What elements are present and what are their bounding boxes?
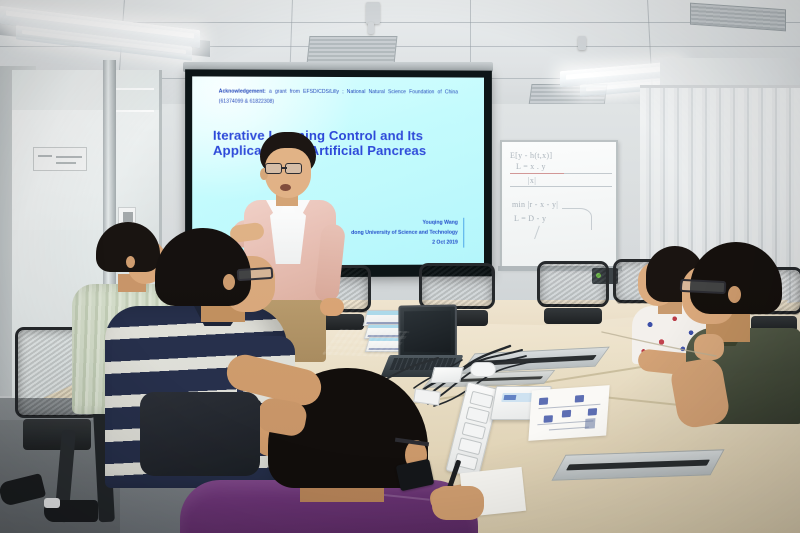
printed-handout[interactable] [528, 385, 609, 441]
ceiling-air-vent [307, 36, 398, 64]
office-chair[interactable] [540, 264, 606, 324]
sprinkler-head-icon [578, 36, 586, 50]
slide-acknowledgement-label: Acknowledgement: [219, 89, 266, 95]
slide-affiliation: dong University of Science and Technolog… [351, 228, 458, 238]
striped-polo-hair [155, 228, 251, 306]
sprinkler-head-icon [368, 22, 374, 34]
presenter-right-hand [320, 298, 344, 316]
olive-polo-ear [728, 286, 741, 303]
whiteboard-equation: E[y - h(t,x)] [510, 151, 552, 160]
device-label [501, 393, 533, 402]
presenter-eyeglasses-icon [285, 163, 302, 174]
presenter-eyeglasses-icon [265, 163, 282, 174]
whiteboard-equation: L = D - y [514, 214, 546, 223]
whiteboard-equation: |x| [528, 176, 536, 185]
sprinkler-head-icon [366, 2, 380, 24]
slide-acknowledgement: Acknowledgement: a grant from EFSD/CDS/L… [219, 88, 458, 108]
presenter-eyeglasses-bridge [281, 167, 287, 169]
whiteboard: E[y - h(t,x)] L = x . y |x| min |r - x -… [500, 140, 618, 268]
sock [44, 498, 60, 508]
olive-polo-hair [690, 242, 782, 314]
door-room-sign [33, 147, 87, 171]
olive-polo-eyeglasses-icon [680, 279, 727, 294]
slide-byline: Youqing Wang dong University of Science … [351, 217, 464, 248]
slide-date: 2 Oct 2019 [351, 238, 458, 248]
slide-author: Youqing Wang [351, 217, 458, 227]
whiteboard-equation: min |r - x - y| [512, 200, 558, 209]
striped-polo-eyeglasses-icon [237, 267, 274, 281]
ceiling-air-vent [690, 3, 786, 32]
whiteboard-equation: L = x . y [516, 162, 546, 171]
cable [600, 328, 720, 362]
dark-trousers [140, 392, 260, 476]
striped-polo-ear [223, 274, 235, 290]
writing-hand [432, 486, 484, 520]
presenter-mouth [280, 184, 291, 191]
meeting-room-photo: E[y - h(t,x)] L = x . y |x| min |r - x -… [0, 0, 800, 533]
